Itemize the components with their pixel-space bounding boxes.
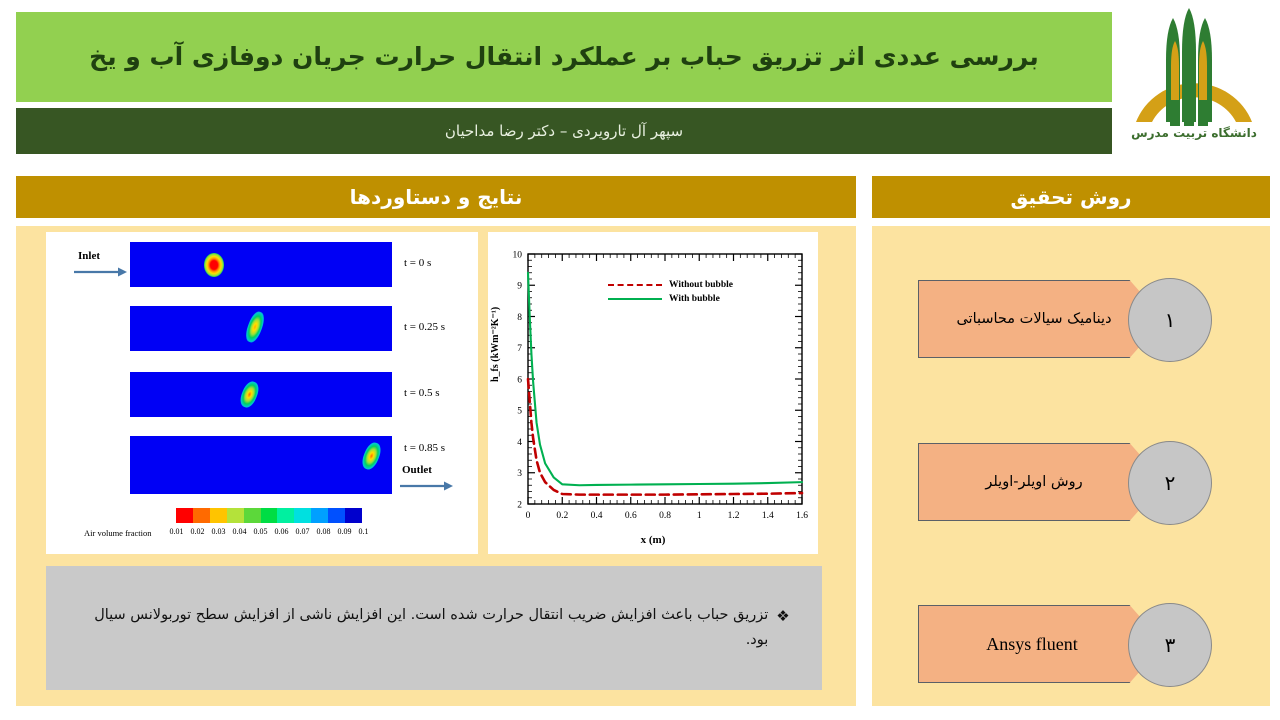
method-step-1[interactable]: دینامیک سیالات محاسباتی ۱ (872, 280, 1270, 358)
svg-text:1: 1 (697, 511, 702, 521)
colorbar-tick: 0.1 (355, 527, 372, 536)
colorbar-title: Air volume fraction (84, 528, 152, 538)
method-step-3-label: Ansys fluent (986, 634, 1096, 655)
logo-caption: دانشگاه تربیت مدرس (1118, 126, 1270, 140)
colorbar-tick: 0.07 (292, 527, 313, 536)
svg-text:3: 3 (517, 469, 522, 479)
legend-label-with-bubble: With bubble (669, 294, 720, 304)
colorbar-segment (311, 508, 328, 523)
bubble-blob (204, 253, 224, 277)
method-step-1-label: دینامیک سیالات محاسباتی (956, 311, 1125, 327)
svg-text:6: 6 (517, 375, 522, 385)
section-header-method-label: روش تحقیق (1011, 185, 1132, 209)
method-step-2-label: روش اویلر-اویلر (985, 474, 1096, 490)
contour-slab-t025 (130, 306, 392, 351)
method-step-3[interactable]: Ansys fluent ۳ (872, 605, 1270, 683)
section-header-results-label: نتایج و دستاوردها (350, 185, 523, 209)
colorbar-tick: 0.03 (208, 527, 229, 536)
colorbar-segment (176, 508, 193, 523)
contour-slab-t085 (130, 436, 392, 494)
colorbar-ticks: 0.010.020.030.040.050.060.070.080.090.1 (166, 527, 372, 536)
colorbar-tick: 0.04 (229, 527, 250, 536)
series-without-bubble (528, 379, 802, 495)
contour-slab-t05 (130, 372, 392, 417)
legend-swatch-dashed (608, 284, 662, 286)
conclusion-box: ❖ تزریق حباب باعث افزایش ضریب انتقال حرا… (46, 566, 822, 690)
colorbar-tick: 0.02 (187, 527, 208, 536)
method-step-1-number: ۱ (1165, 308, 1176, 332)
colorbar-segment (244, 508, 261, 523)
conclusion-text: تزریق حباب باعث افزایش ضریب انتقال حرارت… (78, 603, 768, 654)
svg-text:0.8: 0.8 (659, 511, 671, 521)
outlet-arrow-icon (398, 480, 454, 492)
colorbar-segment (227, 508, 244, 523)
svg-text:5: 5 (517, 407, 522, 417)
colorbar-segment (345, 508, 362, 523)
colorbar-segment (328, 508, 345, 523)
colorbar (176, 508, 362, 523)
time-label-1: t = 0.25 s (404, 321, 445, 333)
university-logo: دانشگاه تربیت مدرس (1118, 4, 1270, 164)
colorbar-tick: 0.08 (313, 527, 334, 536)
heat-transfer-chart: h_fs (kWm⁻²K⁻¹) 234567891000.20.40.60.81… (488, 232, 818, 554)
svg-text:7: 7 (517, 344, 522, 354)
poster-root: بررسی عددی اثر تزریق حباب بر عملکرد انتق… (0, 0, 1280, 720)
svg-text:0.2: 0.2 (556, 511, 568, 521)
bubble-blob (359, 440, 383, 472)
method-step-2[interactable]: روش اویلر-اویلر ۲ (872, 443, 1270, 521)
bubble-blob (243, 310, 267, 345)
colorbar-segment (261, 508, 278, 523)
bullet-icon: ❖ (776, 603, 789, 629)
svg-text:2: 2 (517, 500, 522, 510)
poster-title: بررسی عددی اثر تزریق حباب بر عملکرد انتق… (89, 41, 1039, 72)
section-header-results: نتایج و دستاوردها (16, 176, 856, 218)
logo-graphic (1118, 4, 1270, 130)
legend-label-without-bubble: Without bubble (669, 280, 733, 290)
colorbar-tick: 0.06 (271, 527, 292, 536)
svg-text:0.6: 0.6 (625, 511, 637, 521)
inlet-label: Inlet (78, 250, 100, 262)
author-banner: سپهر آل تارویردی – دکتر رضا مداحیان (16, 108, 1112, 154)
contour-slab-t0 (130, 242, 392, 287)
method-step-3-number: ۳ (1165, 633, 1176, 657)
legend-item-without-bubble: Without bubble (608, 280, 733, 290)
chart-x-axis-label: x (m) (488, 534, 818, 546)
svg-text:9: 9 (517, 282, 522, 292)
svg-text:1.6: 1.6 (796, 511, 808, 521)
legend-swatch-solid (608, 298, 662, 300)
colorbar-segment (294, 508, 311, 523)
outlet-label: Outlet (402, 464, 432, 476)
colorbar-segment (193, 508, 210, 523)
colorbar-tick: 0.09 (334, 527, 355, 536)
method-step-3-number-circle: ۳ (1128, 603, 1212, 687)
chart-legend: Without bubble With bubble (608, 280, 733, 308)
method-step-2-number-circle: ۲ (1128, 441, 1212, 525)
contour-figure-card: Inlet t = 0 s t = 0.25 s t = 0.5 s (46, 232, 478, 554)
svg-text:8: 8 (517, 313, 522, 323)
svg-text:1.2: 1.2 (728, 511, 740, 521)
method-step-1-number-circle: ۱ (1128, 278, 1212, 362)
colorbar-segment (277, 508, 294, 523)
svg-text:0.4: 0.4 (591, 511, 603, 521)
svg-text:1.4: 1.4 (762, 511, 774, 521)
author-names: سپهر آل تارویردی – دکتر رضا مداحیان (445, 122, 683, 140)
svg-text:4: 4 (517, 438, 522, 448)
contour-figure: Inlet t = 0 s t = 0.25 s t = 0.5 s (46, 232, 478, 554)
inlet-arrow-icon (72, 266, 128, 278)
time-label-2: t = 0.5 s (404, 387, 440, 399)
colorbar-tick: 0.01 (166, 527, 187, 536)
svg-text:10: 10 (513, 250, 523, 260)
svg-text:0: 0 (526, 511, 531, 521)
time-label-3: t = 0.85 s (404, 442, 445, 454)
chart-y-axis-label: h_fs (kWm⁻²K⁻¹) (490, 307, 501, 382)
colorbar-tick: 0.05 (250, 527, 271, 536)
title-banner: بررسی عددی اثر تزریق حباب بر عملکرد انتق… (16, 12, 1112, 102)
bubble-blob (237, 379, 261, 410)
legend-item-with-bubble: With bubble (608, 294, 733, 304)
section-header-method: روش تحقیق (872, 176, 1270, 218)
colorbar-segment (210, 508, 227, 523)
method-step-2-number: ۲ (1165, 471, 1176, 495)
time-label-0: t = 0 s (404, 257, 431, 269)
line-chart-card: h_fs (kWm⁻²K⁻¹) 234567891000.20.40.60.81… (488, 232, 818, 554)
